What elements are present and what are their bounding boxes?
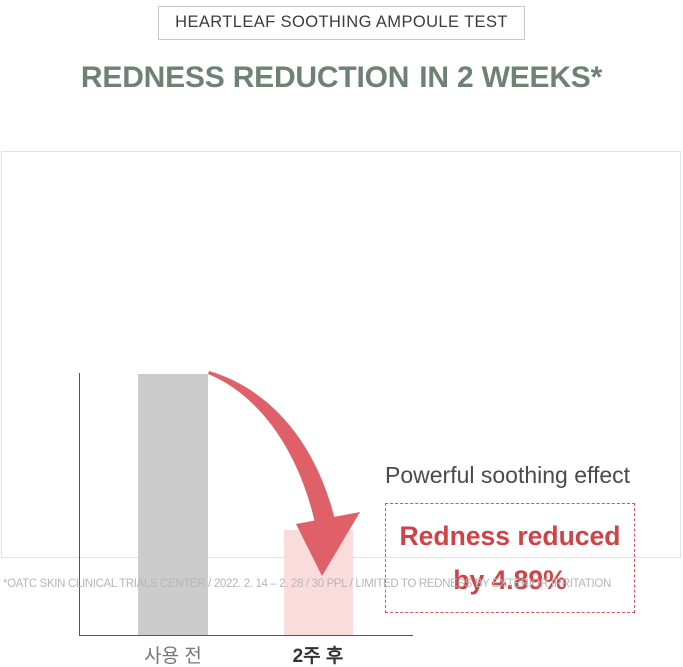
footnote-disclaimer: *OATC SKIN CLINICAL TRIALS CENTER / 2022… [3,578,681,592]
page-title: REDNESS REDUCTIONIN 2 WEEKS* [0,60,683,96]
chart-panel: 사용 전 2주 후 Powerful soothing effect Redne… [1,151,681,558]
test-badge: HEARTLEAF SOOTHING AMPOULE TEST [158,6,525,40]
redness-stat-box: Redness reduced by 4.89% [385,503,635,613]
bar-label-before-use: 사용 전 [108,647,238,666]
bar-label-after-two-weeks: 2주 후 [253,647,383,666]
chart-y-axis [79,373,80,636]
test-badge-container: HEARTLEAF SOOTHING AMPOULE TEST [0,6,683,40]
headline-part-one: REDNESS REDUCTION [81,61,409,94]
chart-x-axis [79,635,413,636]
downward-curved-arrow-icon [192,362,382,582]
stat-headline: Redness reduced [400,523,621,550]
headline-part-two: IN 2 WEEKS* [419,61,602,94]
soothing-effect-text: Powerful soothing effect [385,464,630,487]
